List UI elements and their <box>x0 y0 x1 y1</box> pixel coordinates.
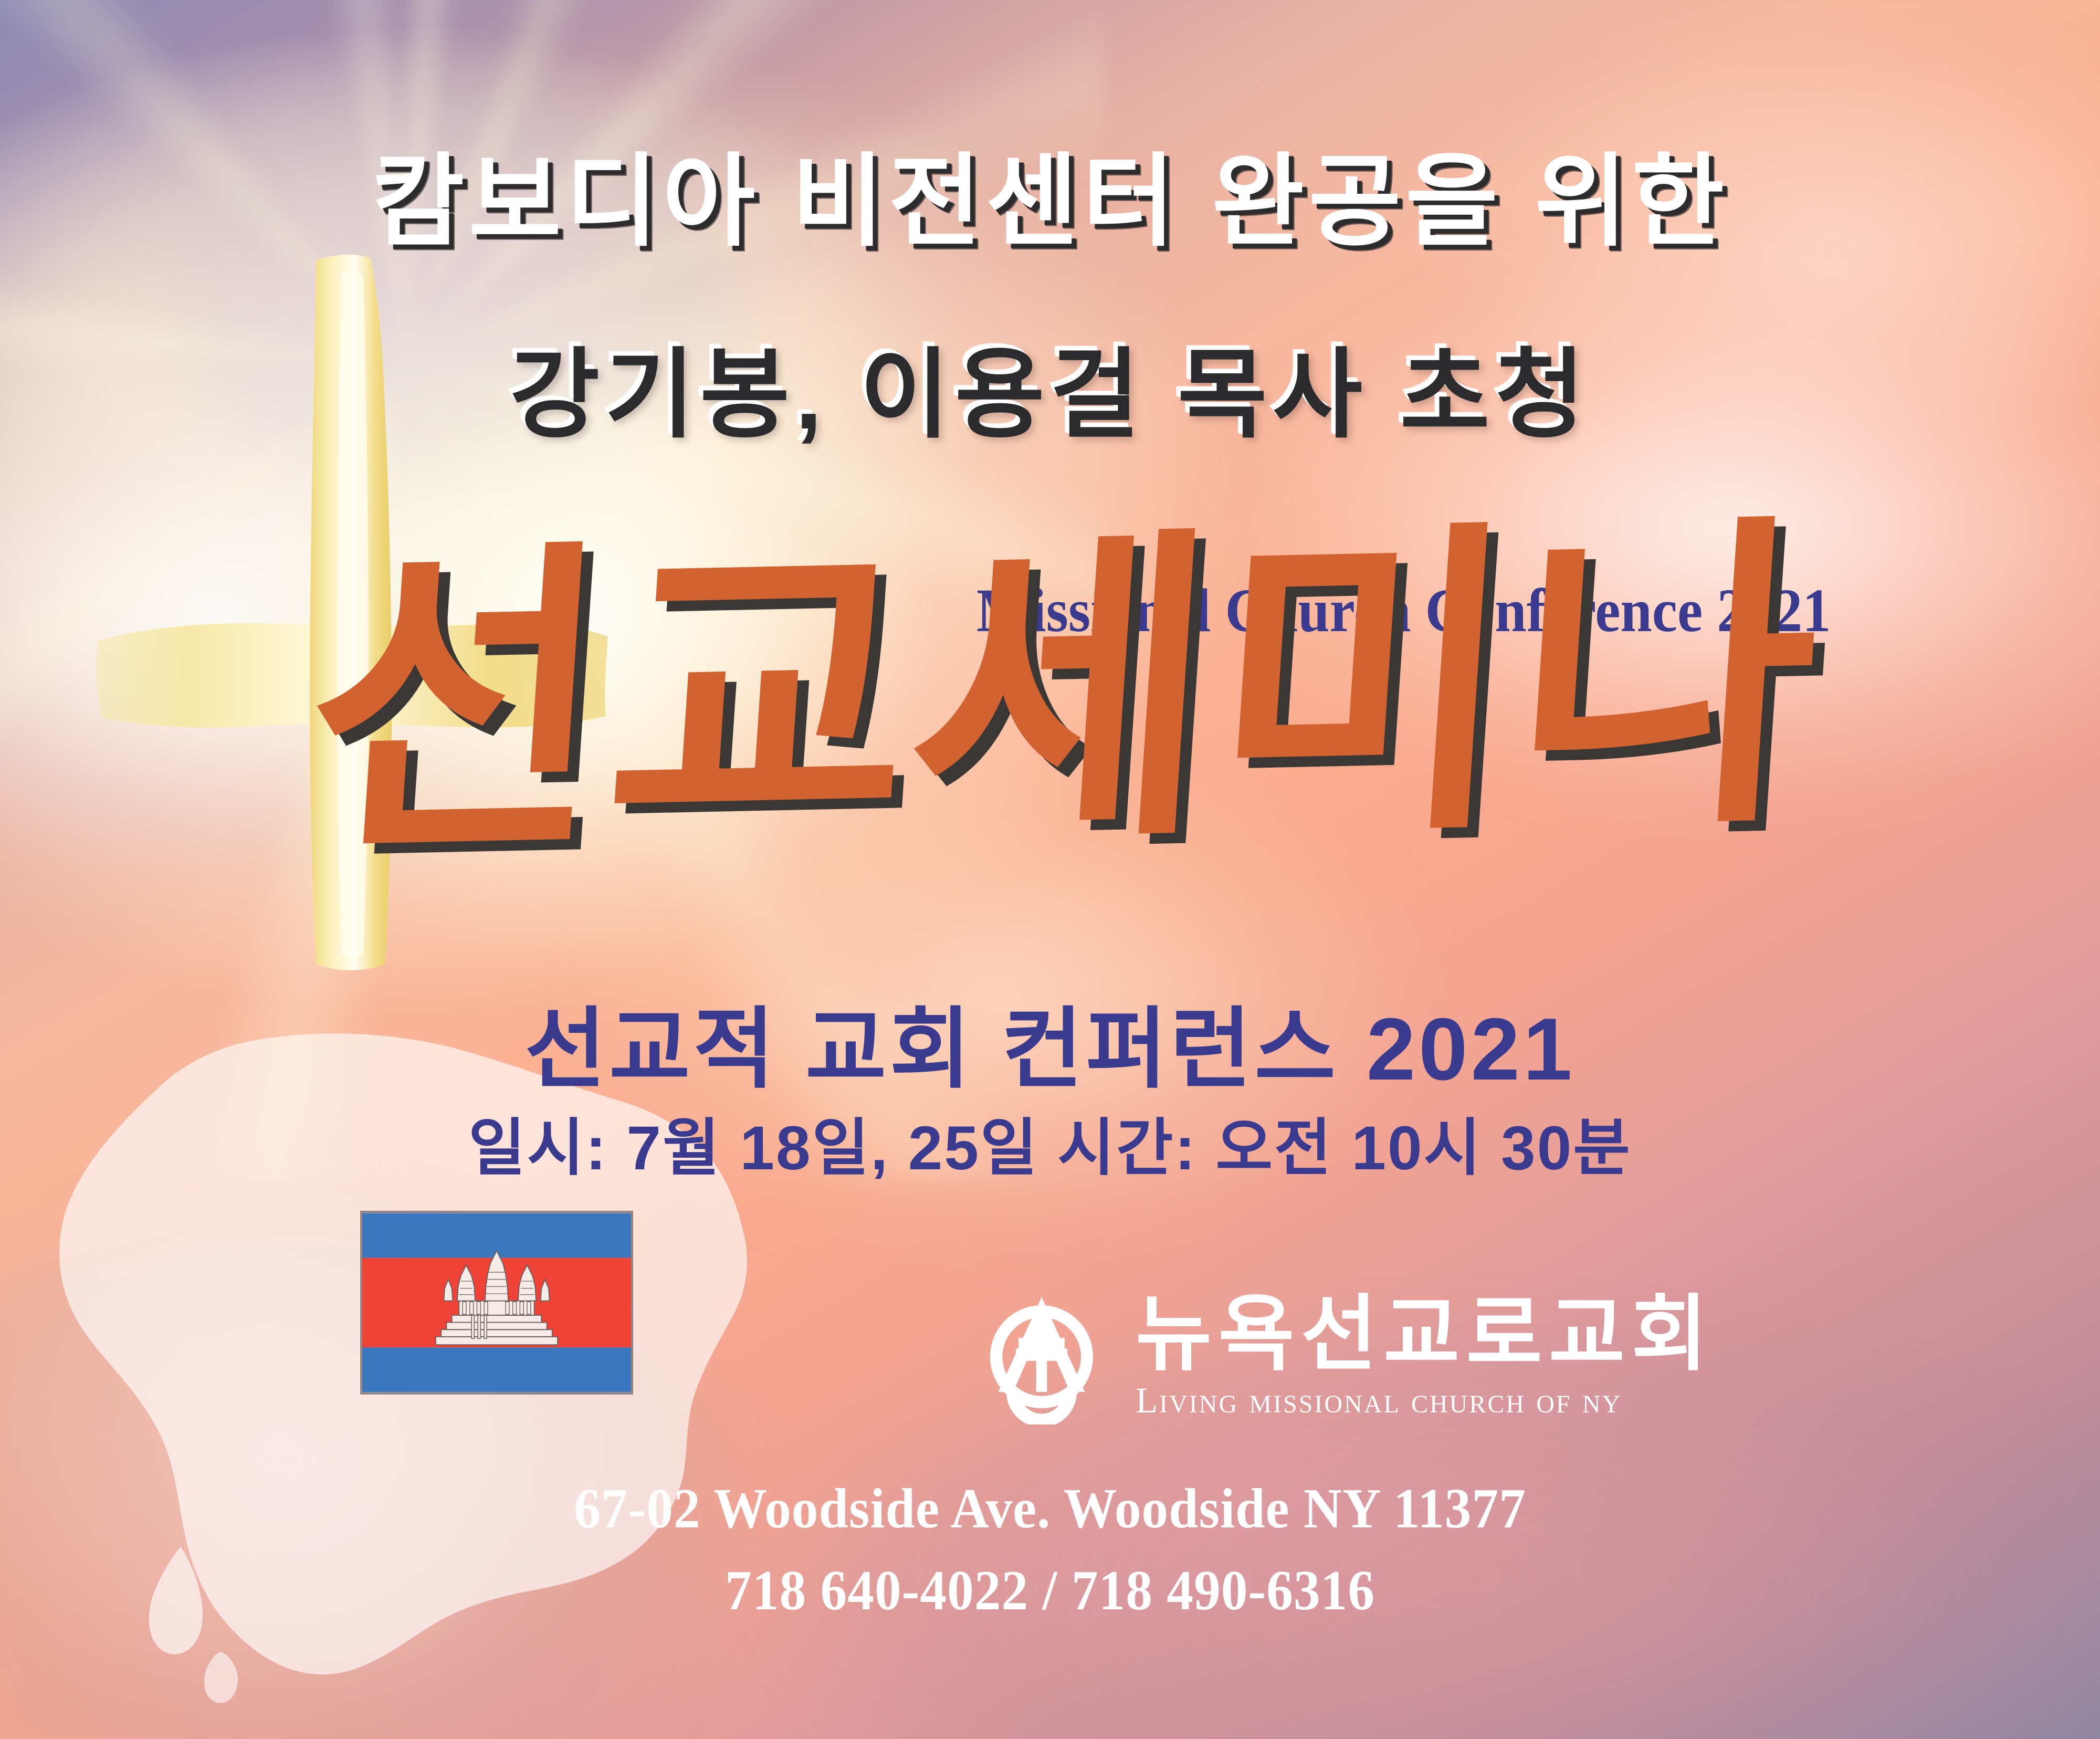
cambodia-flag-icon <box>362 1213 631 1392</box>
phone-line: 718 640-4022 / 718 490-6316 <box>63 1558 2037 1623</box>
poster-canvas: 캄보디아 비전센터 완공을 위한 강기봉, 이용걸 목사 초청 Missiona… <box>0 0 2100 1739</box>
date-time-line: 일시: 7월 18일, 25일 시간: 오전 10시 30분 <box>0 1097 2100 1187</box>
headline-line-2: 강기봉, 이용걸 목사 초청 <box>0 315 2100 457</box>
church-logo-icon <box>974 1289 1109 1424</box>
page-title: 선교세미나 <box>172 512 1955 874</box>
address-line: 67-02 Woodside Ave. Woodside NY 11377 <box>63 1476 2037 1542</box>
church-name-english: Living Missional Church Of NY <box>1136 1380 1714 1421</box>
headline-line-1: 캄보디아 비전센터 완공을 위한 <box>0 120 2100 266</box>
church-logo-block: 뉴욕선교로교회 Living Missional Church Of NY <box>974 1289 1714 1424</box>
church-name-korean: 뉴욕선교로교회 <box>1136 1292 1714 1377</box>
korean-subtitle: 선교적 교회 컨퍼런스 2021 <box>0 978 2100 1105</box>
